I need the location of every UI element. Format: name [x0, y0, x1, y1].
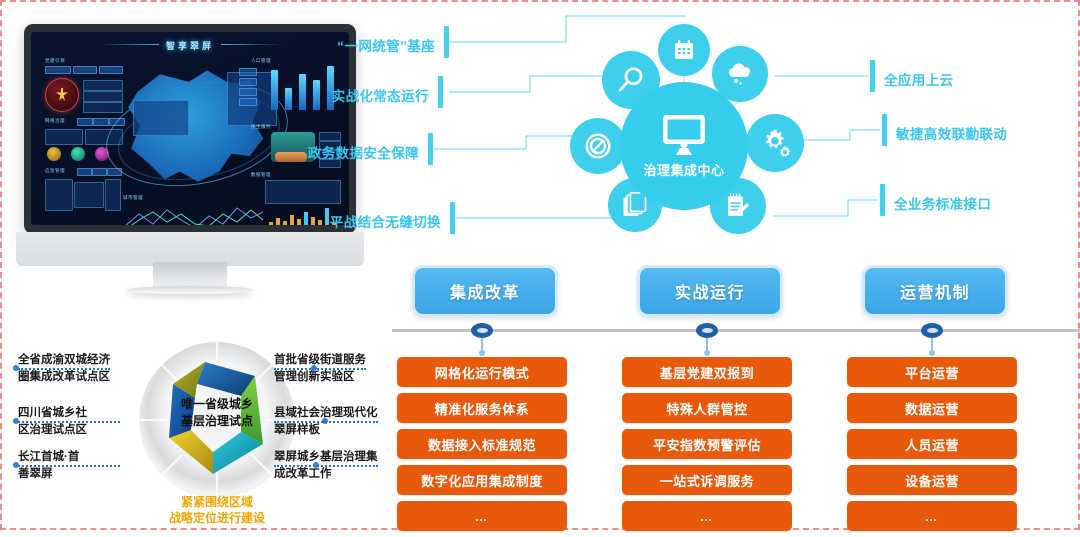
dashboard-panel-heading: 网格治理: [45, 118, 65, 124]
party-emblem-icon: [45, 78, 79, 112]
page-root: 智享翠屏 党建引领 网格治理 应急管理: [0, 0, 1080, 530]
item-label: 基层党建双报到: [660, 363, 755, 382]
dashboard-panel-heading: 应急管理: [45, 168, 65, 174]
node-dot: [704, 350, 710, 356]
node-dot: [929, 350, 935, 356]
category-label: 运营机制: [900, 279, 970, 303]
item-label: …: [475, 509, 490, 524]
item-column-1: 基层党建双报到 特殊人群管控 平安指数预警评估 一站式诉调服务 …: [622, 357, 792, 537]
dashboard-line-chart: [123, 204, 265, 225]
monitor-icon: [660, 114, 708, 156]
hub-label-left-1: “一网统管”基座: [337, 35, 435, 55]
dashboard-panel-heading: 人口管理: [251, 58, 271, 64]
hub-label-right-2: 敏捷高效联勤联动: [896, 123, 1007, 143]
hub-tick: [438, 76, 443, 108]
dashboard-panel-heading: 党建引领: [45, 58, 65, 64]
item-label: …: [925, 509, 940, 524]
governance-hub-diagram: “一网统管”基座 实战化常态运行 政务数据安全保障 平战结合无缝切换 全应用上云…: [380, 4, 1080, 260]
item-box-more[interactable]: …: [397, 501, 567, 531]
hub-label-right-3: 全业务标准接口: [894, 193, 991, 213]
item-box[interactable]: 数字化应用集成制度: [397, 465, 567, 495]
item-box[interactable]: 数据接入标准规范: [397, 429, 567, 459]
positioning-circle-diagram: 唯一省级城乡 基层治理试点 紧紧围绕区域 战略定位进行建设 全省成渝双城经济 圈…: [12, 338, 392, 530]
monitor-bezel: 智享翠屏 党建引领 网格治理 应急管理: [24, 24, 356, 234]
item-label: 数据运营: [905, 399, 959, 418]
circle-center-line1: 唯一省级城乡: [155, 396, 279, 413]
timeline-node-2[interactable]: [921, 323, 943, 338]
hub-tick: [444, 26, 449, 58]
gears-icon: [746, 114, 804, 172]
category-button-0[interactable]: 集成改革: [412, 265, 558, 317]
circle-label-left-2: 长江首城·首 善翠屏: [18, 450, 120, 482]
hub-label-left-4: 平战结合无缝切换: [330, 211, 441, 231]
caption-line2: 战略定位进行建设: [142, 510, 292, 526]
circle-label-left-1: 四川省城乡社 区治理试点区: [18, 406, 120, 438]
item-box[interactable]: 基层党建双报到: [622, 357, 792, 387]
monitor-foot: [126, 286, 254, 294]
caption-line1: 紧紧围绕区域: [142, 494, 292, 510]
item-label: 网格化运行模式: [435, 363, 530, 382]
item-label: …: [700, 509, 715, 524]
item-column-2: 平台运营 数据运营 人员运营 设备运营 …: [847, 357, 1017, 537]
hub-tick: [882, 114, 887, 146]
category-label: 集成改革: [450, 279, 520, 303]
dashboard-title: 智享翠屏: [166, 39, 214, 52]
timeline-rail: [392, 329, 1080, 332]
item-box[interactable]: 一站式诉调服务: [622, 465, 792, 495]
hub-tick: [450, 202, 455, 234]
node-dot: [479, 350, 485, 356]
timeline-node-1[interactable]: [696, 323, 718, 338]
circle-caption: 紧紧围绕区域 战略定位进行建设: [142, 494, 292, 526]
dashboard-panel-heading: 城市管理: [123, 195, 143, 201]
category-button-1[interactable]: 实战运行: [637, 265, 783, 317]
item-label: 平安指数预警评估: [653, 435, 761, 454]
item-box[interactable]: 平台运营: [847, 357, 1017, 387]
item-box-more[interactable]: …: [847, 501, 1017, 531]
item-label: 数字化应用集成制度: [421, 471, 543, 490]
item-label: 一站式诉调服务: [660, 471, 755, 490]
monitor-stand: [153, 262, 227, 288]
category-label: 实战运行: [675, 279, 745, 303]
item-box[interactable]: 数据运营: [847, 393, 1017, 423]
circle-label-right-1: 县域社会治理现代化 翠屏样板: [274, 406, 378, 438]
item-label: 特殊人群管控: [666, 399, 747, 418]
item-box[interactable]: 设备运营: [847, 465, 1017, 495]
dashboard-screen: 智享翠屏 党建引领 网格治理 应急管理: [31, 32, 349, 225]
item-box-more[interactable]: …: [622, 501, 792, 531]
item-label: 设备运营: [905, 471, 959, 490]
hub-tick: [428, 133, 433, 165]
circle-center-text: 唯一省级城乡 基层治理试点: [155, 396, 279, 430]
hub-label-right-1: 全应用上云: [884, 69, 954, 89]
hub-tick: [880, 184, 885, 216]
category-button-2[interactable]: 运营机制: [862, 265, 1008, 317]
circle-label-right-0: 首批省级街道服务 管理创新实验区: [274, 353, 366, 385]
compass-icon: [570, 118, 626, 174]
hub-label-left-3: 政务数据安全保障: [308, 142, 419, 162]
circle-label-left-0: 全省成渝双城经济 圈集成改革试点区: [18, 353, 110, 385]
circle-label-right-2: 翠屏城乡基层治理集 成改革工作: [274, 450, 378, 482]
hub-label-left-2: 实战化常态运行: [332, 85, 429, 105]
hub-tick: [870, 60, 875, 92]
hub-center-label: 治理集成中心: [643, 160, 724, 179]
calendar-icon: [658, 24, 710, 76]
item-label: 人员运营: [905, 435, 959, 454]
item-box[interactable]: 网格化运行模式: [397, 357, 567, 387]
timeline-node-0[interactable]: [471, 323, 493, 338]
monitor-chin: [16, 232, 364, 266]
hub-center: 治理集成中心: [620, 82, 748, 210]
item-box[interactable]: 精准化服务体系: [397, 393, 567, 423]
item-label: 平台运营: [905, 363, 959, 382]
item-box[interactable]: 人员运营: [847, 429, 1017, 459]
dashboard-panel-heading: 民生服务: [251, 124, 271, 130]
item-box[interactable]: 平安指数预警评估: [622, 429, 792, 459]
item-box[interactable]: 特殊人群管控: [622, 393, 792, 423]
item-label: 数据接入标准规范: [428, 435, 536, 454]
circle-center-line2: 基层治理试点: [155, 413, 279, 430]
dashboard-panel-heading: 数据管理: [251, 172, 271, 178]
item-column-0: 网格化运行模式 精准化服务体系 数据接入标准规范 数字化应用集成制度 …: [397, 357, 567, 537]
item-label: 精准化服务体系: [435, 399, 530, 418]
